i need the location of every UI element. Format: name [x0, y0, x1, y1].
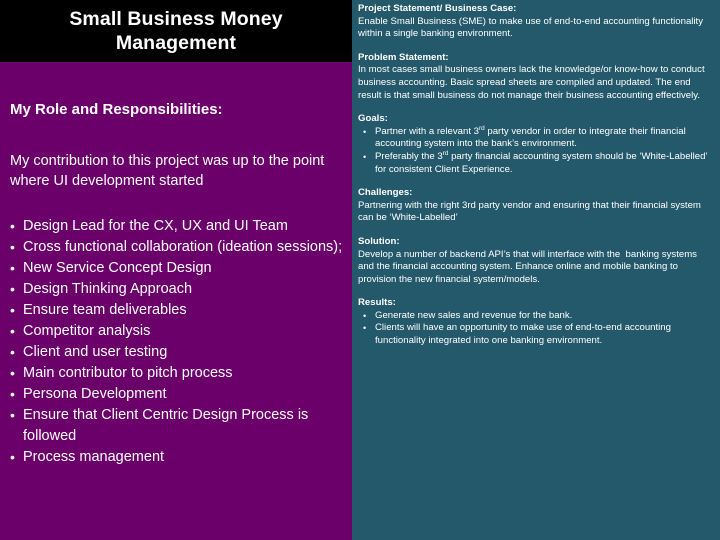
list-item: Preferably the 3rd party financial accou…	[358, 151, 714, 176]
right-panel: Project Statement/ Business Case: Enable…	[352, 0, 720, 540]
solution-body: Develop a number of backend API’s that w…	[358, 249, 714, 287]
challenges-body: Partnering with the right 3rd party vend…	[358, 200, 714, 225]
list-item: Competitor analysis	[8, 321, 352, 342]
project-statement-heading: Project Statement/ Business Case:	[358, 3, 714, 16]
left-panel: Small Business Money Management My Role …	[0, 0, 352, 540]
goals-heading: Goals:	[358, 113, 714, 126]
list-item: Persona Development	[8, 384, 352, 405]
project-statement-body: Enable Small Business (SME) to make use …	[358, 16, 714, 41]
list-item: Generate new sales and revenue for the b…	[358, 310, 714, 323]
problem-statement-block: Problem Statement: In most cases small b…	[358, 52, 714, 102]
list-item: New Service Concept Design	[8, 258, 352, 279]
list-item: Design Thinking Approach	[8, 279, 352, 300]
role-heading: My Role and Responsibilities:	[10, 100, 348, 119]
problem-statement-body: In most cases small business owners lack…	[358, 64, 714, 102]
role-section: My Role and Responsibilities: My contrib…	[0, 62, 352, 540]
list-item: Ensure that Client Centric Design Proces…	[8, 405, 352, 447]
goals-bullet-list: Partner with a relevant 3rd party vendor…	[358, 126, 714, 176]
list-item: Ensure team deliverables	[8, 300, 352, 321]
list-item: Partner with a relevant 3rd party vendor…	[358, 126, 714, 151]
challenges-block: Challenges: Partnering with the right 3r…	[358, 187, 714, 225]
goal-text-pre: Preferably the 3	[375, 151, 443, 162]
spacer	[358, 102, 714, 113]
list-item: Clients will have an opportunity to make…	[358, 322, 714, 347]
challenges-heading: Challenges:	[358, 187, 714, 200]
solution-heading-colon: :	[396, 236, 399, 247]
role-bullet-list: Design Lead for the CX, UX and UI Team C…	[8, 216, 352, 468]
project-statement-block: Project Statement/ Business Case: Enable…	[358, 3, 714, 41]
title-banner: Small Business Money Management	[0, 0, 352, 62]
goals-heading-colon: :	[385, 113, 388, 124]
list-item: Cross functional collaboration (ideation…	[8, 237, 352, 258]
list-item: Process management	[8, 447, 352, 468]
list-item: Client and user testing	[8, 342, 352, 363]
solution-block: Solution: Develop a number of backend AP…	[358, 236, 714, 286]
problem-statement-heading: Problem Statement:	[358, 52, 714, 65]
goals-block: Goals: Partner with a relevant 3rd party…	[358, 113, 714, 176]
solution-heading: Solution:	[358, 236, 714, 249]
spacer	[358, 176, 714, 187]
goal-text-pre: Partner with a relevant 3	[375, 126, 479, 137]
slide-canvas: Small Business Money Management My Role …	[0, 0, 720, 540]
solution-heading-label: Solution	[358, 236, 396, 247]
list-item: Main contributor to pitch process	[8, 363, 352, 384]
page-title: Small Business Money Management	[0, 7, 352, 55]
results-bullet-list: Generate new sales and revenue for the b…	[358, 310, 714, 348]
list-item: Design Lead for the CX, UX and UI Team	[8, 216, 352, 237]
results-heading: Results:	[358, 297, 714, 310]
results-block: Results: Generate new sales and revenue …	[358, 297, 714, 347]
role-intro-paragraph: My contribution to this project was up t…	[10, 152, 346, 191]
goals-heading-label: Goals	[358, 113, 385, 124]
spacer	[358, 225, 714, 236]
spacer	[358, 41, 714, 52]
spacer	[358, 286, 714, 297]
